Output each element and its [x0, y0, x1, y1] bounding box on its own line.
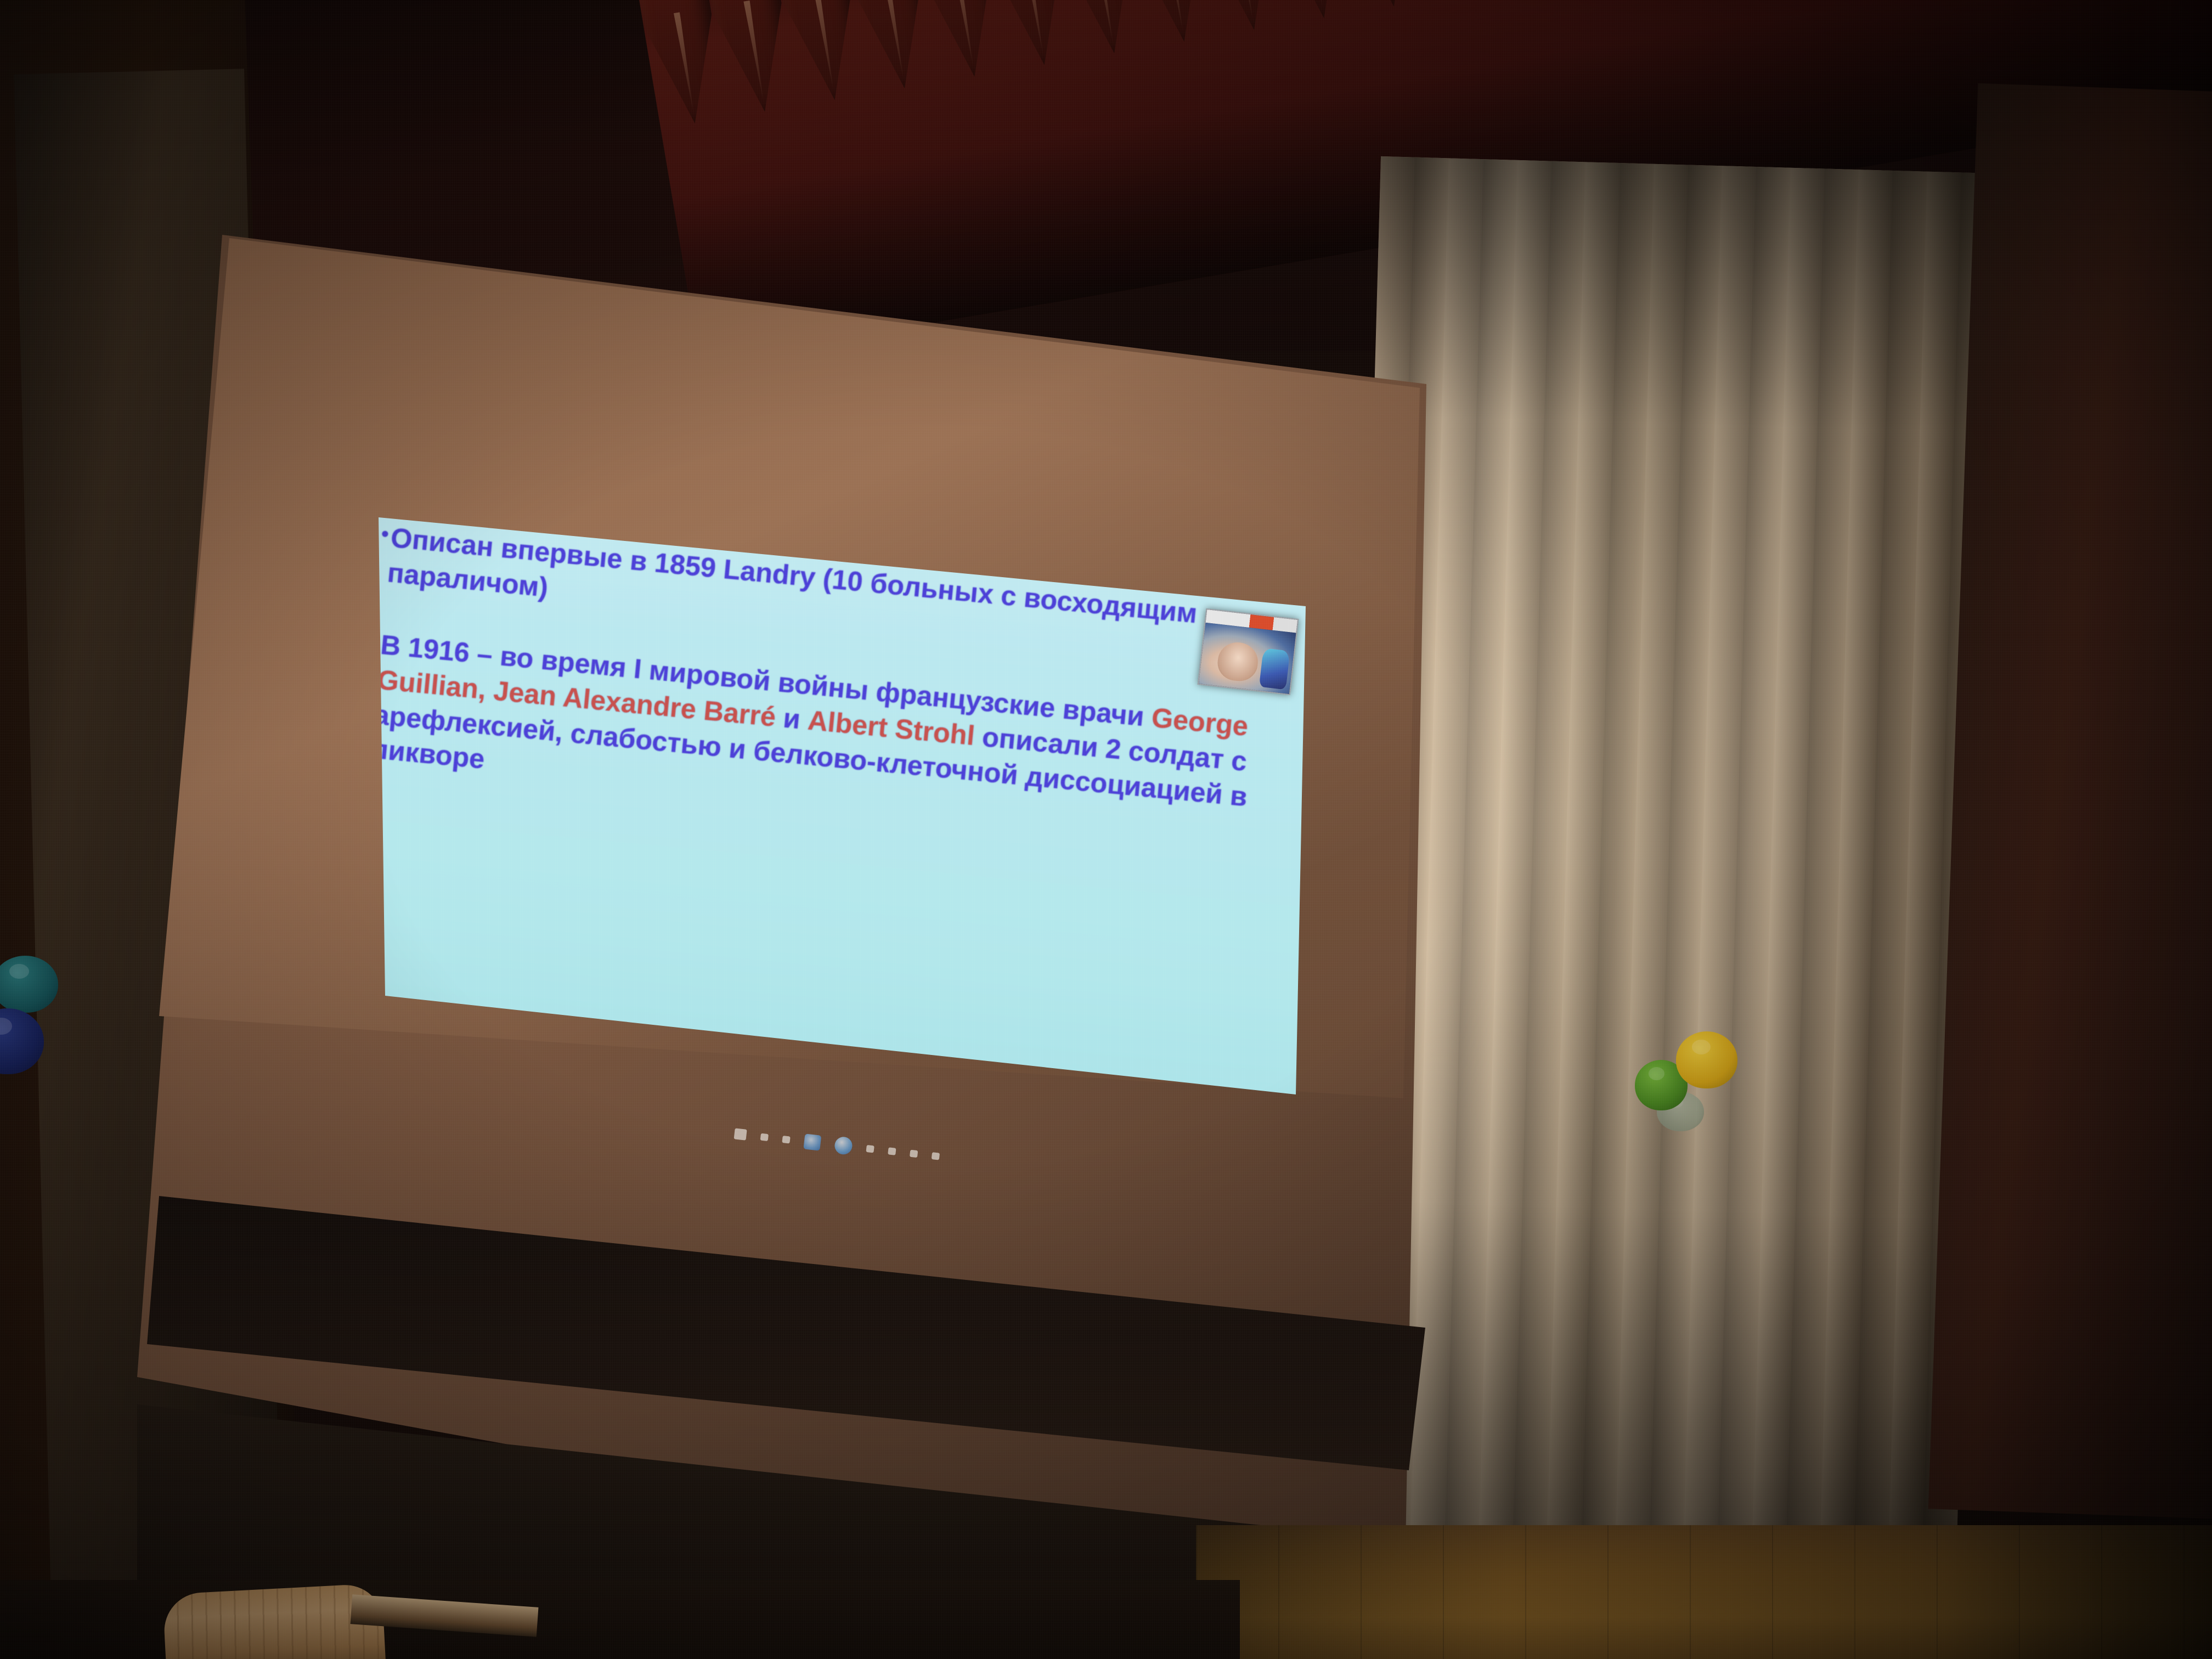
- taskbar-icon[interactable]: [866, 1144, 874, 1152]
- curtain-right: [1340, 156, 1995, 1621]
- curtain-far-right: [1928, 83, 2212, 1519]
- videoconference-thumbnail[interactable]: [1198, 608, 1299, 695]
- participant-face: [1216, 640, 1260, 682]
- taskbar-icon[interactable]: [932, 1152, 940, 1160]
- bullet-segment: и: [774, 702, 809, 736]
- taskbar-icon[interactable]: [760, 1133, 769, 1141]
- taskbar-icon[interactable]: [782, 1136, 790, 1143]
- taskbar-icon[interactable]: [734, 1128, 747, 1140]
- bullet-marker: •: [380, 520, 390, 549]
- balloon-yellow: [1676, 1031, 1737, 1088]
- webcam-video-feed: [1199, 623, 1296, 694]
- taskbar-icon[interactable]: [910, 1149, 918, 1157]
- taskbar-icon-active-app[interactable]: [834, 1136, 853, 1155]
- wooden-stage-floor: [1196, 1525, 2212, 1659]
- valance-scallops: [631, 0, 2212, 129]
- auditorium-scene: Синдром Гийена-Барре: история • Описан в…: [0, 0, 2212, 1659]
- participant-background: [1259, 648, 1290, 690]
- taskbar-icon[interactable]: [888, 1147, 896, 1155]
- taskbar-icon-browser[interactable]: [803, 1133, 821, 1150]
